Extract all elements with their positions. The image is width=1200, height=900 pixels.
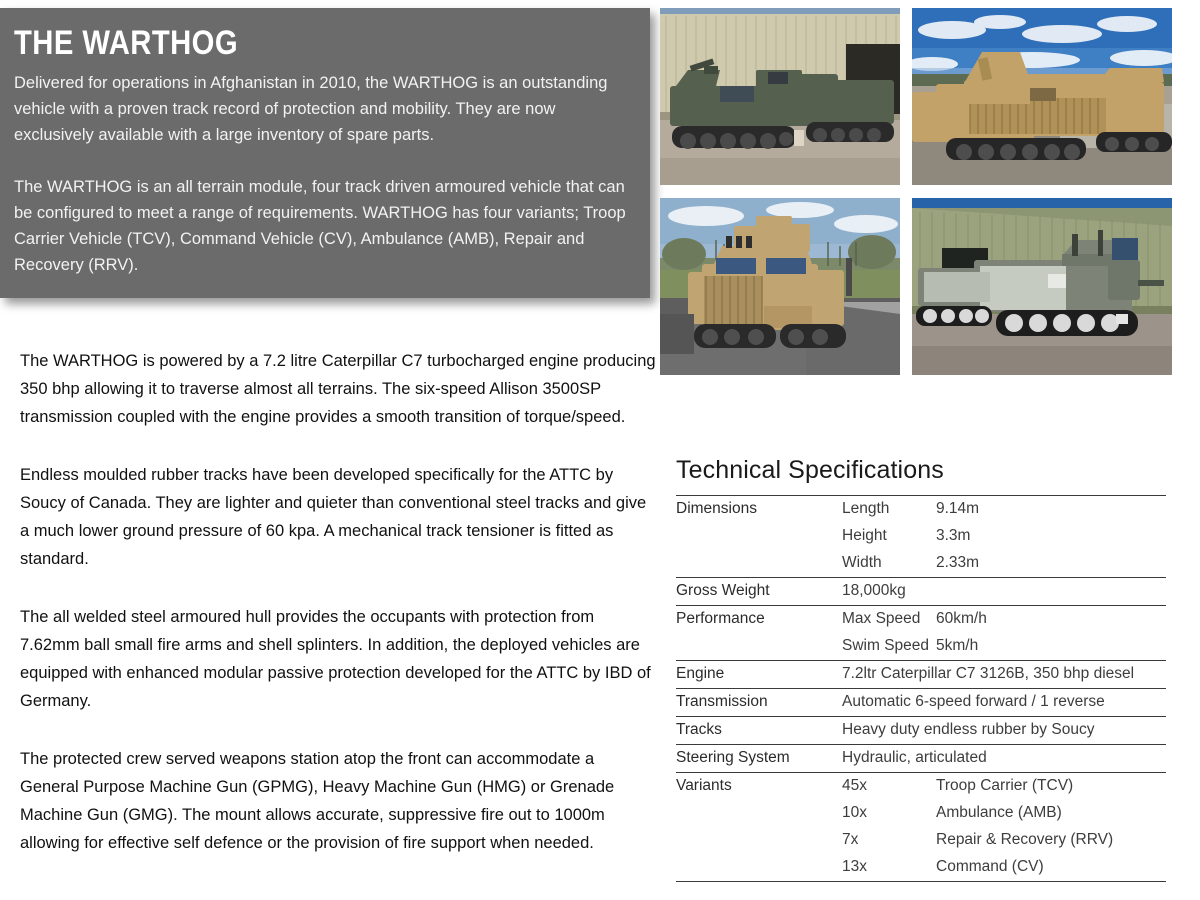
spec-count-variant-rrv: 7x xyxy=(842,827,936,854)
body-paragraph-2: Endless moulded rubber tracks have been … xyxy=(20,461,656,573)
spec-value-max-speed: 60km/h xyxy=(936,606,1166,634)
spec-label-dimensions: Dimensions xyxy=(676,496,842,524)
spec-label-variants: Variants xyxy=(676,773,842,801)
spec-value-steering-system: Hydraulic, articulated xyxy=(842,745,1166,773)
spec-label-empty-amb xyxy=(676,800,842,827)
photo-tan-warthog-front-view-image xyxy=(660,198,900,375)
technical-specifications-section: Technical Specifications Dimensions Leng… xyxy=(676,455,1166,882)
hero-paragraph-2: The WARTHOG is an all terrain module, fo… xyxy=(14,174,626,278)
spec-label-engine: Engine xyxy=(676,661,842,689)
spec-label-steering-system: Steering System xyxy=(676,745,842,773)
table-row-performance-max-speed: Performance Max Speed 60km/h xyxy=(676,606,1166,634)
spec-label-transmission: Transmission xyxy=(676,689,842,717)
spec-value-swim-speed: 5km/h xyxy=(936,633,1166,661)
spec-count-variant-tcv: 45x xyxy=(842,773,936,801)
spec-name-variant-tcv: Troop Carrier (TCV) xyxy=(936,773,1166,801)
spec-value-height: 3.3m xyxy=(936,523,1166,550)
spec-sublabel-length: Length xyxy=(842,496,936,524)
spec-sublabel-swim-speed: Swim Speed xyxy=(842,633,936,661)
table-row-tracks: Tracks Heavy duty endless rubber by Souc… xyxy=(676,717,1166,745)
spec-name-variant-cv: Command (CV) xyxy=(936,854,1166,882)
table-closing-rule xyxy=(676,882,1166,883)
spec-value-tracks: Heavy duty endless rubber by Soucy xyxy=(842,717,1166,745)
photo-desert-tan-warthog-convoy-image xyxy=(912,8,1172,185)
photo-gallery xyxy=(660,8,1178,375)
spec-label-gross-weight: Gross Weight xyxy=(676,578,842,606)
table-row-variant-amb: 10x Ambulance (AMB) xyxy=(676,800,1166,827)
spec-count-variant-cv: 13x xyxy=(842,854,936,882)
body-copy: The WARTHOG is powered by a 7.2 litre Ca… xyxy=(20,347,656,857)
table-row-dimensions-width: Width 2.33m xyxy=(676,550,1166,578)
spec-label-empty-cv xyxy=(676,854,842,882)
table-row-transmission: Transmission Automatic 6-speed forward /… xyxy=(676,689,1166,717)
spec-value-width: 2.33m xyxy=(936,550,1166,578)
table-row-variant-tcv: Variants 45x Troop Carrier (TCV) xyxy=(676,773,1166,801)
table-row-variant-rrv: 7x Repair & Recovery (RRV) xyxy=(676,827,1166,854)
table-row-dimensions-height: Height 3.3m xyxy=(676,523,1166,550)
spec-count-variant-amb: 10x xyxy=(842,800,936,827)
photo-green-warthog-side-view-hangar-image xyxy=(912,198,1172,375)
spec-label-tracks: Tracks xyxy=(676,717,842,745)
photo-desert-tan-warthog-convoy xyxy=(912,8,1172,185)
photo-green-warthog-pair-outside-hangar-image xyxy=(660,8,900,185)
spec-name-variant-rrv: Repair & Recovery (RRV) xyxy=(936,827,1166,854)
hero-paragraph-1: Delivered for operations in Afghanistan … xyxy=(14,70,626,148)
spec-value-engine: 7.2ltr Caterpillar C7 3126B, 350 bhp die… xyxy=(842,661,1166,689)
spec-label-empty-rrv xyxy=(676,827,842,854)
photo-green-warthog-pair-outside-hangar xyxy=(660,8,900,185)
technical-specifications-table: Dimensions Length 9.14m Height 3.3m Widt… xyxy=(676,495,1166,882)
spec-value-gross-weight: 18,000kg xyxy=(842,578,1166,606)
table-row-performance-swim-speed: Swim Speed 5km/h xyxy=(676,633,1166,661)
spec-sublabel-height: Height xyxy=(842,523,936,550)
spec-label-empty-width xyxy=(676,550,842,578)
table-row-variant-cv: 13x Command (CV) xyxy=(676,854,1166,882)
photo-green-warthog-side-view-hangar xyxy=(912,198,1172,375)
spec-value-transmission: Automatic 6-speed forward / 1 reverse xyxy=(842,689,1166,717)
body-paragraph-4: The protected crew served weapons statio… xyxy=(20,745,656,857)
spec-value-length: 9.14m xyxy=(936,496,1166,524)
photo-tan-warthog-front-view xyxy=(660,198,900,375)
page-title: THE WARTHOG xyxy=(14,24,542,62)
spec-name-variant-amb: Ambulance (AMB) xyxy=(936,800,1166,827)
hero-panel: THE WARTHOG Delivered for operations in … xyxy=(0,8,650,298)
spec-label-empty-swim xyxy=(676,633,842,661)
table-row-dimensions-length: Dimensions Length 9.14m xyxy=(676,496,1166,524)
spec-label-performance: Performance xyxy=(676,606,842,634)
table-row-engine: Engine 7.2ltr Caterpillar C7 3126B, 350 … xyxy=(676,661,1166,689)
body-paragraph-1: The WARTHOG is powered by a 7.2 litre Ca… xyxy=(20,347,656,431)
spec-sublabel-max-speed: Max Speed xyxy=(842,606,936,634)
spec-label-empty-height xyxy=(676,523,842,550)
table-row-steering-system: Steering System Hydraulic, articulated xyxy=(676,745,1166,773)
body-paragraph-3: The all welded steel armoured hull provi… xyxy=(20,603,656,715)
spec-sublabel-width: Width xyxy=(842,550,936,578)
table-row-gross-weight: Gross Weight 18,000kg xyxy=(676,578,1166,606)
technical-specifications-heading: Technical Specifications xyxy=(676,455,1166,485)
